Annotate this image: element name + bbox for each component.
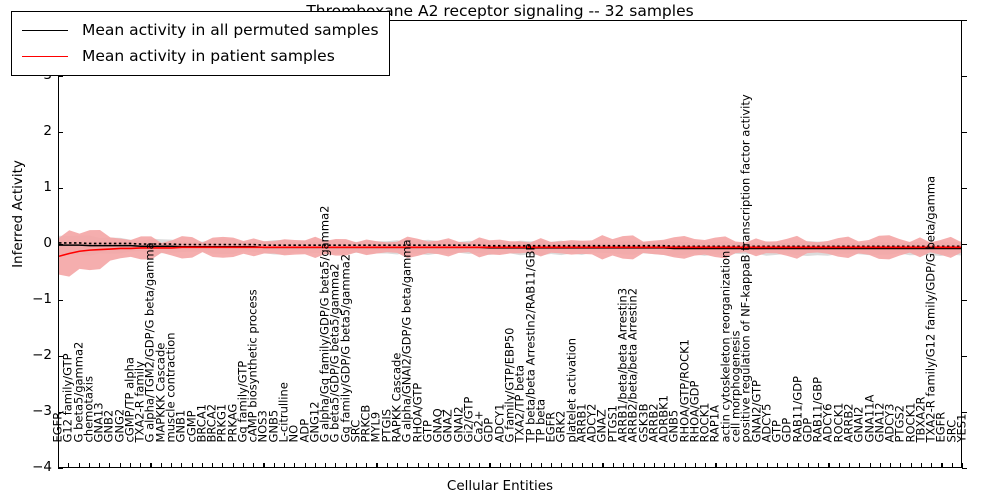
y-tick-label: 0 [8, 235, 52, 251]
y-tick-mark [962, 244, 967, 245]
legend-label-permuted: Mean activity in all permuted samples [82, 22, 379, 38]
y-tick-label: 2 [8, 123, 52, 139]
y-tick-label: −2 [8, 347, 52, 363]
legend-item-permuted: Mean activity in all permuted samples [22, 17, 379, 43]
legend-swatch-patient [22, 56, 68, 57]
y-tick-label: 1 [8, 179, 52, 195]
legend-item-patient: Mean activity in patient samples [22, 43, 379, 69]
y-tick-mark [962, 76, 967, 77]
y-tick-mark [58, 188, 63, 189]
y-tick-mark [58, 76, 63, 77]
x-axis-label: Cellular Entities [0, 478, 1000, 494]
chart-root: Thromboxane A2 receptor signaling -- 32 … [0, 0, 1000, 500]
y-tick-mark [58, 356, 63, 357]
y-tick-label: −1 [8, 291, 52, 307]
y-tick-label: −4 [8, 459, 52, 475]
legend-swatch-permuted [22, 30, 68, 31]
y-tick-mark [58, 468, 63, 469]
y-tick-mark [58, 244, 63, 245]
y-tick-mark [58, 132, 63, 133]
y-tick-mark [962, 300, 967, 301]
plot-area [58, 20, 962, 468]
plot-canvas [59, 21, 961, 467]
y-tick-mark [58, 412, 63, 413]
legend: Mean activity in all permuted samples Me… [11, 11, 390, 76]
y-tick-mark [962, 188, 967, 189]
y-tick-mark [962, 356, 967, 357]
y-tick-mark [962, 412, 967, 413]
y-tick-mark [962, 132, 967, 133]
y-tick-label: −3 [8, 403, 52, 419]
legend-label-patient: Mean activity in patient samples [82, 48, 335, 64]
mean-lines [59, 21, 961, 467]
permuted-mean-line-dotted [59, 243, 961, 246]
y-tick-mark [962, 468, 967, 469]
y-tick-mark [58, 300, 63, 301]
y-tick-mark [962, 20, 967, 21]
